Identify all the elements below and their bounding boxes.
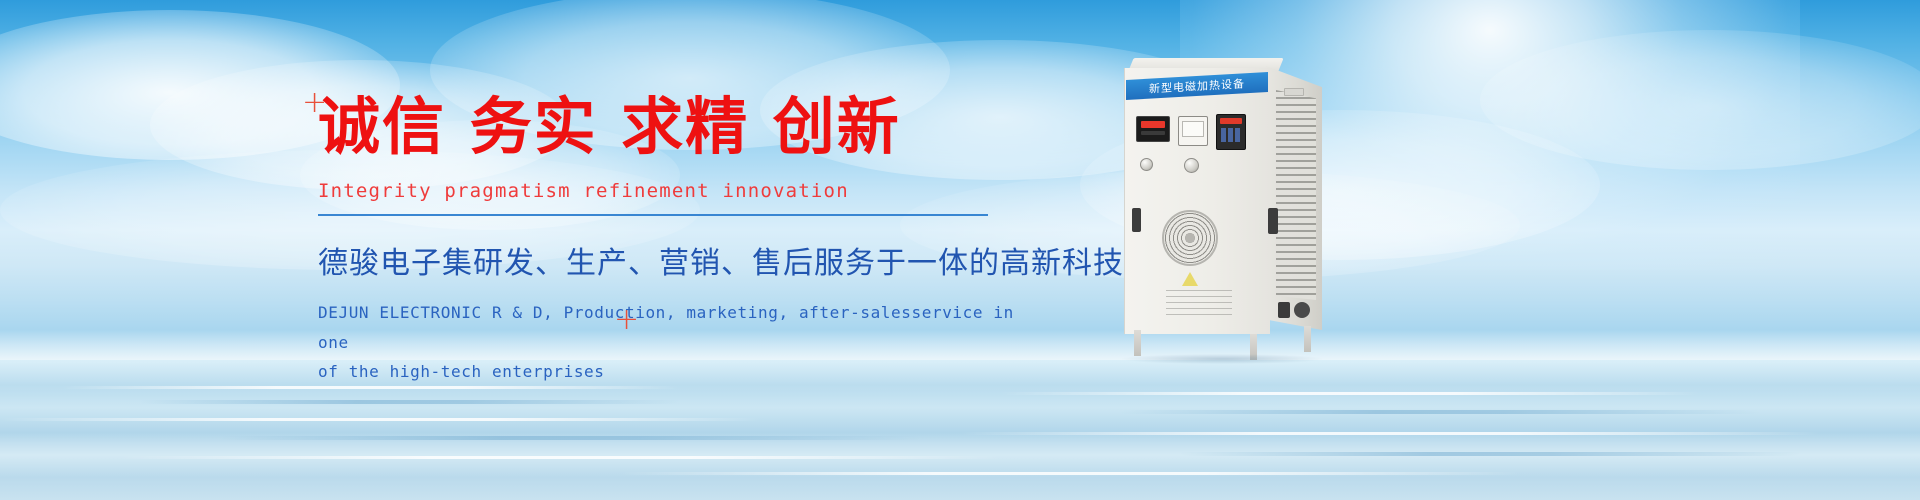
sea-shadow-line xyxy=(1180,452,1800,456)
machine-label-text: 新型电磁加热设备 xyxy=(1149,75,1245,96)
machine-leg xyxy=(1134,330,1141,356)
rear-port xyxy=(1278,302,1290,318)
side-switch xyxy=(1132,208,1141,232)
warning-triangle-icon xyxy=(1182,272,1198,286)
subtitle-english-line-2: of the high-tech enterprises xyxy=(318,357,1038,387)
banner-copy-block: 诚信 务实 求精 创新 Integrity pragmatism refinem… xyxy=(318,96,1038,387)
control-knob xyxy=(1184,158,1199,173)
product-image-heating-equipment: 新型电磁加热设备 xyxy=(1118,58,1338,358)
divider-rule xyxy=(318,214,988,216)
subtitle-chinese: 德骏电子集研发、生产、营销、售后服务于一体的高新科技企业 xyxy=(318,238,1038,282)
subtitle-english: DEJUN ELECTRONIC R & D, Production, mark… xyxy=(318,298,1038,387)
fan-grille-icon xyxy=(1162,210,1218,266)
machine-shadow xyxy=(1122,354,1322,364)
sea-shadow-line xyxy=(1120,410,1760,414)
machine-vent-grille xyxy=(1276,90,1316,300)
machine-control-panel xyxy=(1136,116,1261,150)
spec-label-lines xyxy=(1166,290,1232,316)
machine-leg xyxy=(1304,326,1311,352)
sea-highlight xyxy=(620,472,1520,475)
sea-highlight xyxy=(0,418,760,421)
promo-banner: + + 诚信 务实 求精 创新 Integrity pragmatism ref… xyxy=(0,0,1920,500)
digital-display xyxy=(1136,116,1170,142)
sea-highlight xyxy=(120,456,1000,459)
headline-chinese: 诚信 务实 求精 创新 xyxy=(318,96,1038,158)
sea-shadow-line xyxy=(140,400,680,404)
headline-english: Integrity pragmatism refinement innovati… xyxy=(318,180,1038,202)
sea-highlight xyxy=(960,432,1820,435)
sea-highlight xyxy=(1000,392,1700,395)
subtitle-english-line-1: DEJUN ELECTRONIC R & D, Production, mark… xyxy=(318,298,1038,357)
analog-gauge xyxy=(1178,116,1208,146)
keypad-panel xyxy=(1216,114,1246,150)
control-knob xyxy=(1140,158,1153,171)
machine-side-badge xyxy=(1284,88,1304,96)
sea-shadow-line xyxy=(220,436,920,440)
rear-port-round xyxy=(1294,302,1310,318)
cloud-shape xyxy=(1480,30,1920,170)
door-handle xyxy=(1268,208,1278,234)
